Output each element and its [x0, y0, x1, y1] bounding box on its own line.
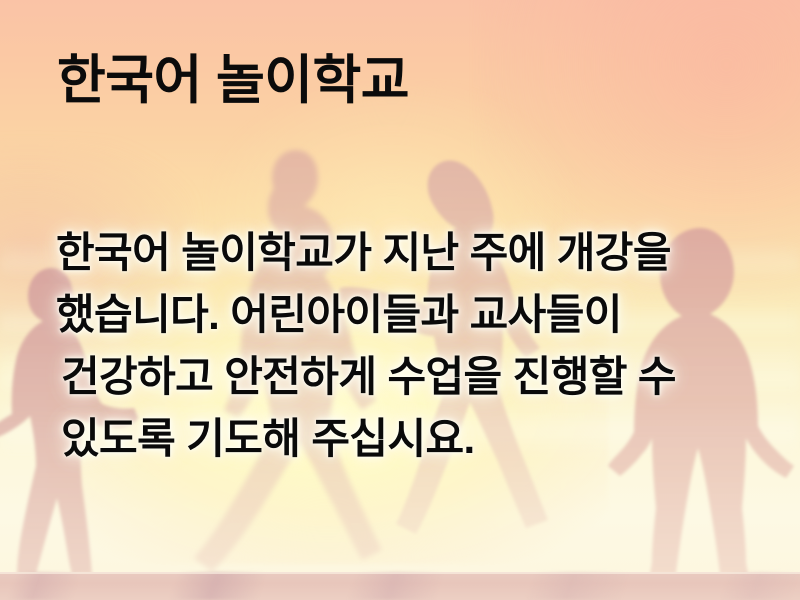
body-line: 있도록 기도해 주십시요.	[56, 408, 686, 470]
ground-strip	[0, 572, 800, 600]
body-line: 한국어 놀이학교가 지난 주에 개강을	[56, 222, 686, 284]
body-line: 건강하고 안전하게 수업을 진행할 수	[56, 346, 686, 408]
body-line: 했습니다. 어린아이들과 교사들이	[56, 284, 686, 346]
ground-shadow-streaks	[0, 572, 800, 600]
slide-body-text: 한국어 놀이학교가 지난 주에 개강을 했습니다. 어린아이들과 교사들이 건강…	[56, 222, 686, 470]
slide-title: 한국어 놀이학교	[57, 50, 409, 112]
slide-canvas: 한국어 놀이학교 한국어 놀이학교가 지난 주에 개강을 했습니다. 어린아이들…	[0, 0, 800, 600]
horizon-line	[0, 572, 800, 574]
